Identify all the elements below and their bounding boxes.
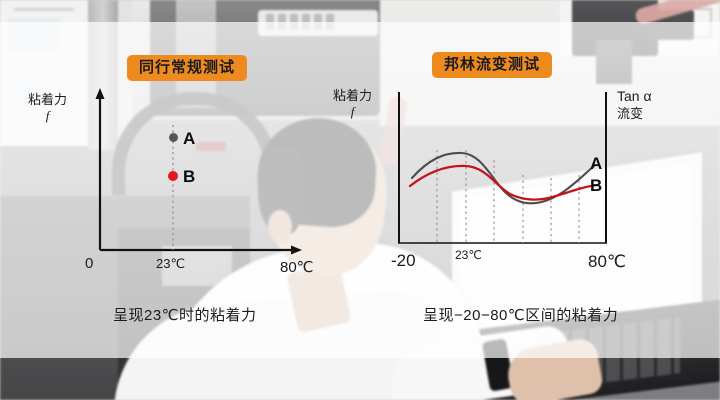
right-curve-a: [412, 153, 594, 203]
screenshot-root: 粘着力 f A B 0 23℃ 80℃ 同行常规测试 呈现23℃时的粘着力: [0, 0, 720, 400]
right-x-tick-minus20: -20: [391, 251, 416, 271]
right-curve-b-label: B: [590, 176, 602, 196]
right-y-axis-label-text: 粘着力: [333, 88, 372, 103]
right-curve-a-label: A: [590, 154, 602, 174]
right-secondary-axis-label-text: Tan α: [617, 88, 652, 104]
right-x-tick-23c: 23℃: [455, 248, 482, 262]
right-panel-caption: 呈现−20−80℃区间的粘着力: [423, 304, 618, 325]
right-x-tick-80c: 80℃: [588, 252, 626, 272]
right-panel-badge[interactable]: 邦林流变测试: [432, 52, 552, 78]
right-secondary-axis-label: Tan α 流变: [617, 88, 652, 122]
diagram-layer: 粘着力 f A B 0 23℃ 80℃ 同行常规测试 呈现23℃时的粘着力: [0, 0, 720, 400]
right-secondary-axis-sublabel: 流变: [617, 106, 652, 122]
right-y-axis-sublabel: f: [333, 104, 372, 120]
right-chart-svg: [0, 0, 720, 400]
right-y-axis-label: 粘着力 f: [333, 88, 372, 121]
right-curve-b: [410, 166, 598, 200]
